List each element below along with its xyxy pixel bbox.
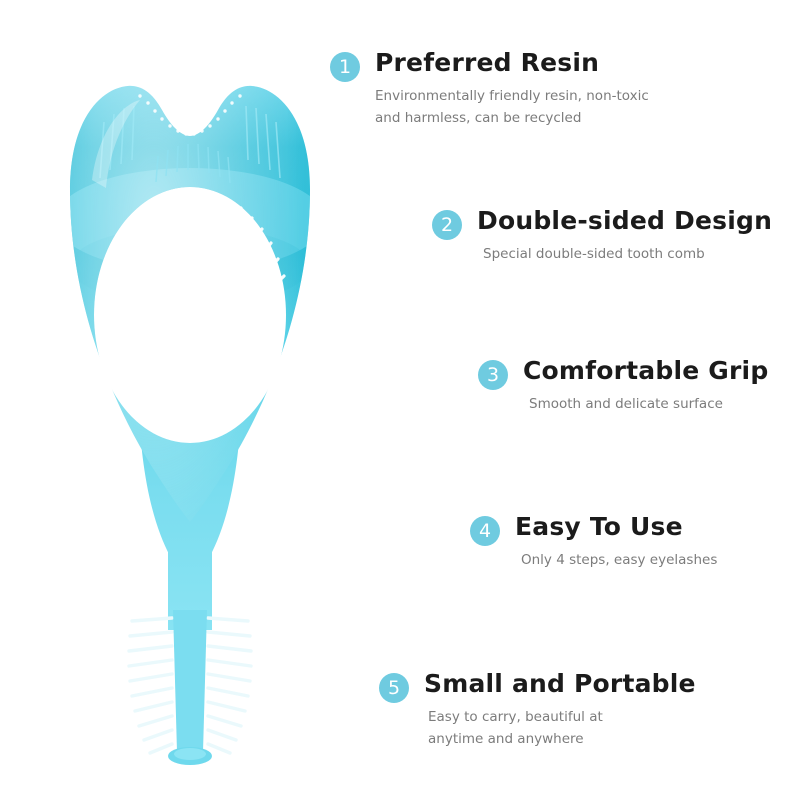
feature-badge-5: 5 xyxy=(379,673,409,703)
feature-text-3: Comfortable Grip Smooth and delicate sur… xyxy=(523,356,768,415)
feature-title-3: Comfortable Grip xyxy=(523,356,768,386)
product-image xyxy=(40,70,340,770)
feature-description-3-line-1: Smooth and delicate surface xyxy=(529,393,768,415)
feature-item-4: 4 Easy To Use Only 4 steps, easy eyelash… xyxy=(470,512,717,571)
product-infographic: 1 Preferred Resin Environmentally friend… xyxy=(0,0,801,801)
feature-description-4-line-1: Only 4 steps, easy eyelashes xyxy=(521,549,717,571)
feature-description-5-line-2: anytime and anywhere xyxy=(428,728,696,750)
feature-description-1-line-2: and harmless, can be recycled xyxy=(375,107,649,129)
feature-description-4: Only 4 steps, easy eyelashes xyxy=(521,549,717,571)
feature-item-2: 2 Double-sided Design Special double-sid… xyxy=(432,206,772,265)
feature-description-2-line-1: Special double-sided tooth comb xyxy=(483,243,772,265)
feature-text-1: Preferred Resin Environmentally friendly… xyxy=(375,48,649,129)
feature-title-1: Preferred Resin xyxy=(375,48,649,78)
feature-text-5: Small and Portable Easy to carry, beauti… xyxy=(424,669,696,750)
feature-title-4: Easy To Use xyxy=(515,512,717,542)
feature-description-5: Easy to carry, beautiful at anytime and … xyxy=(428,706,696,750)
feature-description-1-line-1: Environmentally friendly resin, non-toxi… xyxy=(375,85,649,107)
feature-badge-1: 1 xyxy=(330,52,360,82)
feature-text-4: Easy To Use Only 4 steps, easy eyelashes xyxy=(515,512,717,571)
mascara-guard-illustration xyxy=(40,70,340,770)
feature-description-2: Special double-sided tooth comb xyxy=(483,243,772,265)
feature-badge-4: 4 xyxy=(470,516,500,546)
feature-item-1: 1 Preferred Resin Environmentally friend… xyxy=(330,48,649,129)
feature-badge-2: 2 xyxy=(432,210,462,240)
feature-description-5-line-1: Easy to carry, beautiful at xyxy=(428,706,696,728)
feature-badge-3: 3 xyxy=(478,360,508,390)
feature-title-5: Small and Portable xyxy=(424,669,696,699)
feature-description-3: Smooth and delicate surface xyxy=(529,393,768,415)
feature-title-2: Double-sided Design xyxy=(477,206,772,236)
feature-item-3: 3 Comfortable Grip Smooth and delicate s… xyxy=(478,356,768,415)
product-lash-guard-ring xyxy=(40,70,340,770)
feature-text-2: Double-sided Design Special double-sided… xyxy=(477,206,772,265)
feature-item-5: 5 Small and Portable Easy to carry, beau… xyxy=(379,669,696,750)
feature-description-1: Environmentally friendly resin, non-toxi… xyxy=(375,85,649,129)
